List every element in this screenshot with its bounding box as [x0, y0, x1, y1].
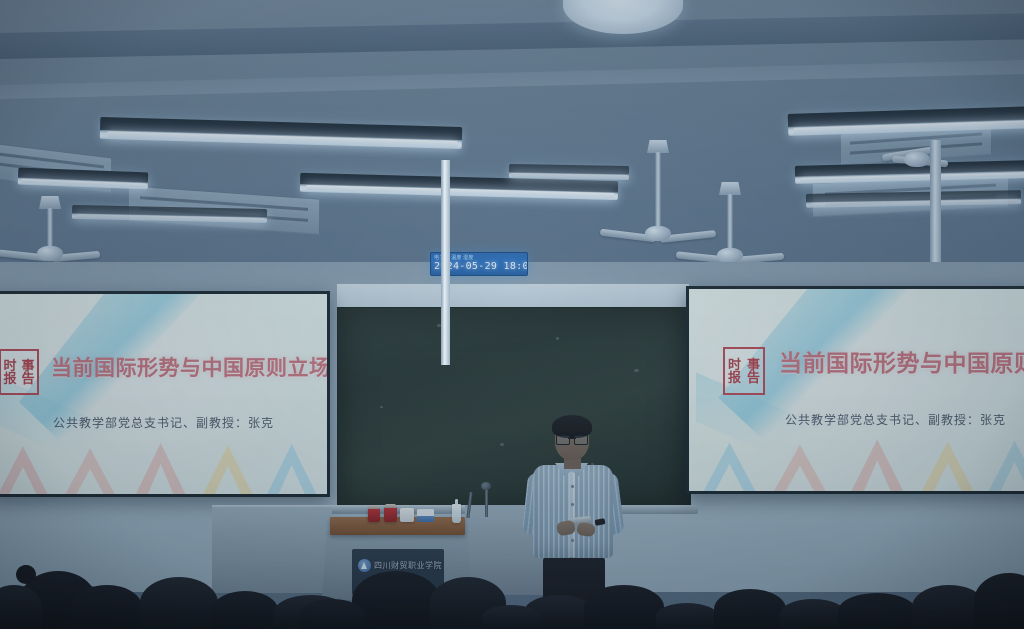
audience-head: [140, 577, 218, 629]
fan-motor: [717, 248, 743, 263]
ceiling-soffit: [0, 13, 1024, 59]
blue-white-box: [417, 509, 434, 522]
chevron-shape: [988, 440, 1024, 491]
audience-head: [780, 599, 846, 629]
slide-chevron-band: [689, 438, 1024, 491]
chevron-shape: [65, 443, 115, 494]
chevron-shape: [267, 443, 317, 494]
chevron-shape: [703, 440, 756, 491]
audience-head: [212, 591, 278, 629]
audience-head: [352, 571, 440, 629]
chevron-shape: [203, 443, 253, 494]
slide-seal-stamp: 时 事 报 告: [723, 347, 765, 395]
microphone: [485, 487, 488, 517]
chevron-shape: [921, 440, 974, 491]
thermos-lid: [369, 505, 379, 509]
slide-subtitle: 公共教学部党总支书记、副教授：张克: [53, 414, 274, 431]
ceiling-fan: [626, 140, 690, 252]
right-slide-surface: 时 事 报 告 当前国际形势与中国原则立场 公共教学部党总支书记、副教授：张克: [689, 289, 1024, 491]
seal-char: 告: [744, 371, 763, 384]
school-name-text: 四川财贸职业学院: [374, 560, 442, 571]
audience-head: [656, 603, 718, 629]
audience-head: [714, 589, 786, 629]
lecture-hall-photo: 电子钟 温度 湿度 2024-05-29 18:05:49 时 事 报 告 当前…: [0, 0, 1024, 629]
slide-seal-stamp: 时 事 报 告: [0, 349, 39, 395]
display-support-pole: [441, 160, 450, 365]
fan-motor: [37, 246, 63, 261]
right-projection-screen: 时 事 报 告 当前国际形势与中国原则立场 公共教学部党总支书记、副教授：张克: [686, 286, 1024, 494]
seal-char: 报: [725, 371, 744, 384]
seal-char: 报: [1, 372, 19, 385]
audience-head: [584, 585, 664, 629]
fan-motor: [904, 152, 930, 167]
school-logo-icon: [358, 559, 371, 572]
ceiling-fan: [20, 196, 80, 266]
ceiling-band: [0, 60, 1024, 99]
audience-hair-bun: [16, 565, 36, 584]
microphone-head-icon: [481, 482, 491, 490]
slide-title: 当前国际形势与中国原则立场: [51, 352, 327, 382]
chevron-shape: [773, 440, 826, 491]
audience-head: [72, 585, 142, 629]
left-projection-screen: 时 事 报 告 当前国际形势与中国原则立场 公共教学部党总支书记、副教授：张克: [0, 291, 330, 497]
glasses-icon: [556, 435, 588, 443]
ceiling-fan: [882, 128, 952, 188]
led-tube: [511, 173, 627, 179]
thermos-lid: [385, 504, 395, 508]
bottle-neck: [455, 499, 458, 505]
fan-downrod: [656, 152, 661, 228]
slide-title: 当前国际形势与中国原则立场: [779, 344, 1024, 378]
fan-motor: [645, 226, 671, 241]
chevron-shape: [851, 440, 904, 491]
slide-subtitle: 公共教学部党总支书记、副教授：张克: [785, 411, 1006, 428]
seal-char: 告: [19, 372, 37, 385]
red-thermos-cup-2: [384, 507, 397, 522]
ceiling-fan: [700, 182, 760, 272]
chalkboard: [337, 307, 691, 513]
water-bottle: [452, 504, 461, 523]
audience-head: [300, 599, 364, 629]
presenter-right-hand: [576, 522, 596, 537]
audience-head: [838, 593, 916, 629]
fan-downrod: [728, 194, 733, 250]
led-light-fixture: [509, 164, 629, 180]
chevron-shape: [0, 443, 48, 494]
left-slide-surface: 时 事 报 告 当前国际形势与中国原则立场 公共教学部党总支书记、副教授：张克: [0, 294, 327, 494]
front-desk-left: [212, 507, 332, 593]
presenter-shirt-placket: [569, 471, 575, 557]
red-thermos-cup: [368, 508, 380, 522]
slide-chevron-band: [0, 442, 327, 494]
chevron-shape: [135, 443, 185, 494]
fan-downrod: [48, 208, 53, 248]
white-tissue-box: [400, 508, 414, 522]
audience-head: [482, 605, 540, 629]
lectern-desktop: [330, 517, 465, 535]
